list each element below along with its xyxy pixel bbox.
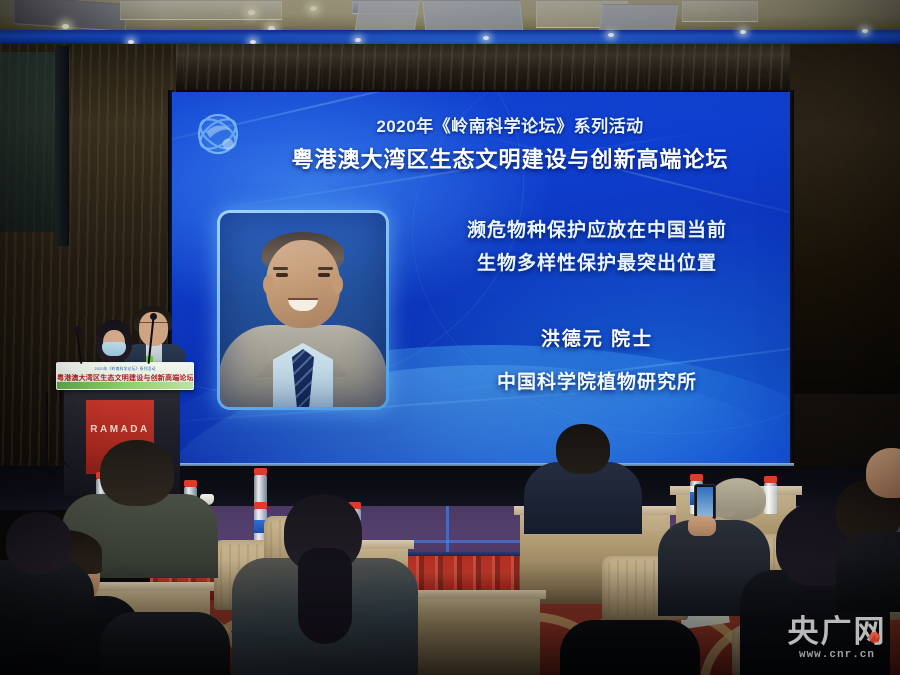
audience-person-head (866, 448, 900, 498)
microphone-icon (74, 326, 81, 333)
cove-spotlight (483, 36, 489, 40)
portrait-vignette (220, 213, 386, 407)
microphone-icon (150, 313, 157, 320)
bottle-cap (184, 480, 197, 487)
cove-spotlight (862, 29, 868, 33)
audience-person (0, 560, 94, 675)
podium-sign-accent (57, 382, 193, 389)
ceiling-downlight (310, 6, 317, 11)
quote-line-2: 生物多样性保护最突出位置 (422, 247, 772, 280)
podium-sign-line-1: 2020年《岭南科学论坛》系列活动 (60, 366, 189, 372)
speaker-portrait (220, 213, 386, 407)
screen-quote-block: 濒危物种保护应放在中国当前 生物多样性保护最突出位置 (422, 214, 772, 281)
bottle-cap (254, 502, 267, 509)
led-screen: 2020年《岭南科学论坛》系列活动 粤港澳大湾区生态文明建设与创新高端论坛 (172, 92, 790, 465)
speaker-organization: 中国科学院植物研究所 (422, 367, 772, 394)
audience-person-head (100, 440, 174, 506)
stage-floor-line (446, 506, 449, 556)
bottle-cap (690, 474, 703, 481)
audience-person-hair (298, 548, 352, 644)
podium-cable (60, 392, 78, 470)
ceiling-downlight (248, 10, 255, 15)
speaker-portrait-frame (217, 210, 389, 410)
watermark: 央广网 www.cnr.cn (778, 616, 896, 661)
watermark-url: www.cnr.cn (778, 649, 896, 661)
watermark-accent-dot (869, 632, 880, 643)
audience-person-head (6, 512, 72, 574)
left-wall-post (55, 46, 69, 246)
cove-spotlight (740, 30, 746, 34)
right-wall (790, 44, 900, 394)
audience-person (560, 620, 700, 675)
phone-screen (697, 487, 713, 517)
watermark-brand: 央广网 (778, 616, 896, 647)
hand (688, 516, 716, 536)
speaker-name: 洪德元 院士 (422, 324, 772, 351)
podium-sign: 2020年《岭南科学论坛》系列活动 粤港澳大湾区生态文明建设与创新高端论坛 (56, 362, 194, 390)
smartphone (694, 484, 716, 520)
quote-line-1: 濒危物种保护应放在中国当前 (422, 214, 772, 247)
event-subtitle: 2020年《岭南科学论坛》系列活动 (232, 112, 788, 137)
audience-person (100, 612, 230, 675)
cove-spotlight (355, 38, 361, 42)
conference-photo: 2020年《岭南科学论坛》系列活动 粤港澳大湾区生态文明建设与创新高端论坛 (0, 0, 900, 675)
screen-speaker-block: 洪德元 院士 中国科学院植物研究所 (422, 324, 772, 394)
audience-person (836, 532, 900, 612)
bottle-cap (764, 476, 777, 483)
event-title: 粤港澳大湾区生态文明建设与创新高端论坛 (232, 142, 788, 174)
bottle-cap (254, 468, 267, 475)
face-mask-icon (102, 342, 126, 356)
cove-spotlight (608, 33, 614, 37)
screen-heading-block: 2020年《岭南科学论坛》系列活动 粤港澳大湾区生态文明建设与创新高端论坛 (232, 112, 788, 174)
audience-person-head (556, 424, 610, 474)
